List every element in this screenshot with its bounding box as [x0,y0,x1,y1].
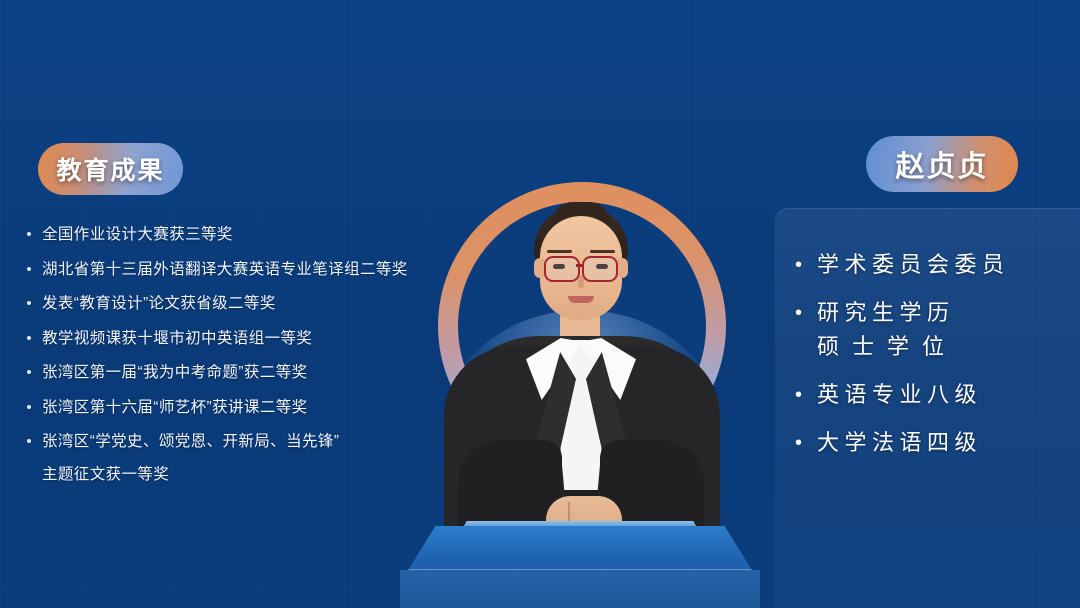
list-item-label: 发表“教育设计”论文获省级二等奖 [42,293,276,315]
list-item-line-2: 硕士学位 [817,330,957,364]
slide-canvas: 教育成果 • 全国作业设计大赛获三等奖 • 湖北省第十三届外语翻译大赛英语专业笔… [0,0,1080,608]
list-item-label: 张湾区“学党史、颂党恩、开新局、当先锋” 主题征文获一等奖 [42,431,339,486]
bullet-icon: • [16,224,42,246]
list-item-label: 张湾区第一届“我为中考命题”获二等奖 [42,362,308,384]
list-item-label: 全国作业设计大赛获三等奖 [42,224,233,246]
person-name-badge: 赵贞贞 [866,136,1018,192]
list-item: • 发表“教育设计”论文获省级二等奖 [16,293,466,315]
bullet-icon: • [16,362,42,384]
list-item: • 全国作业设计大赛获三等奖 [16,224,466,246]
list-item: • 学术委员会委员 [795,248,1067,282]
bullet-icon: • [16,328,42,350]
eyeglasses-bridge [576,264,584,267]
education-achievements-list: • 全国作业设计大赛获三等奖 • 湖北省第十三届外语翻译大赛英语专业笔译组二等奖… [16,224,466,499]
bullet-icon: • [16,431,42,453]
credentials-list: • 学术委员会委员 • 研究生学历 硕士学位 • 英语专业八级 • 大学法语四级 [795,248,1067,474]
bullet-icon: • [16,293,42,315]
list-item-line-1: 张湾区“学党史、颂党恩、开新局、当先锋” [42,433,339,450]
list-item: • 教学视频课获十堰市初中英语组一等奖 [16,328,466,350]
list-item-label: 教学视频课获十堰市初中英语组一等奖 [42,328,312,350]
list-item-label: 研究生学历 硕士学位 [817,296,957,364]
list-item: • 大学法语四级 [795,426,1067,460]
list-item-label: 英语专业八级 [817,378,982,412]
list-item-label: 学术委员会委员 [817,248,1010,282]
list-item-line-1: 研究生学历 [817,300,955,325]
eyeglasses-lens-left [544,256,580,282]
list-item-line-2: 主题征文获一等奖 [42,464,339,486]
list-item: • 英语专业八级 [795,378,1067,412]
person-eyebrow-right [590,250,615,253]
bullet-icon: • [795,296,817,330]
person-nose [578,276,584,288]
eyeglasses-lens-right [582,256,618,282]
list-item: • 张湾区“学党史、颂党恩、开新局、当先锋” 主题征文获一等奖 [16,431,466,486]
bullet-icon: • [16,259,42,281]
bullet-icon: • [795,248,817,282]
list-item: • 张湾区第十六届“师艺杯”获讲课二等奖 [16,397,466,419]
list-item-label: 张湾区第十六届“师艺杯”获讲课二等奖 [42,397,308,419]
bullet-icon: • [795,426,817,460]
podium-base [408,526,752,570]
podium-glow [400,570,760,608]
list-item: • 张湾区第一届“我为中考命题”获二等奖 [16,362,466,384]
bullet-icon: • [795,378,817,412]
list-item: • 研究生学历 硕士学位 [795,296,1067,364]
list-item-label: 湖北省第十三届外语翻译大赛英语专业笔译组二等奖 [42,259,408,281]
education-achievements-badge: 教育成果 [38,143,183,195]
list-item: • 湖北省第十三届外语翻译大赛英语专业笔译组二等奖 [16,259,466,281]
person-mouth [568,296,594,303]
list-item-label: 大学法语四级 [817,426,982,460]
bullet-icon: • [16,397,42,419]
person-eyebrow-left [547,250,572,253]
